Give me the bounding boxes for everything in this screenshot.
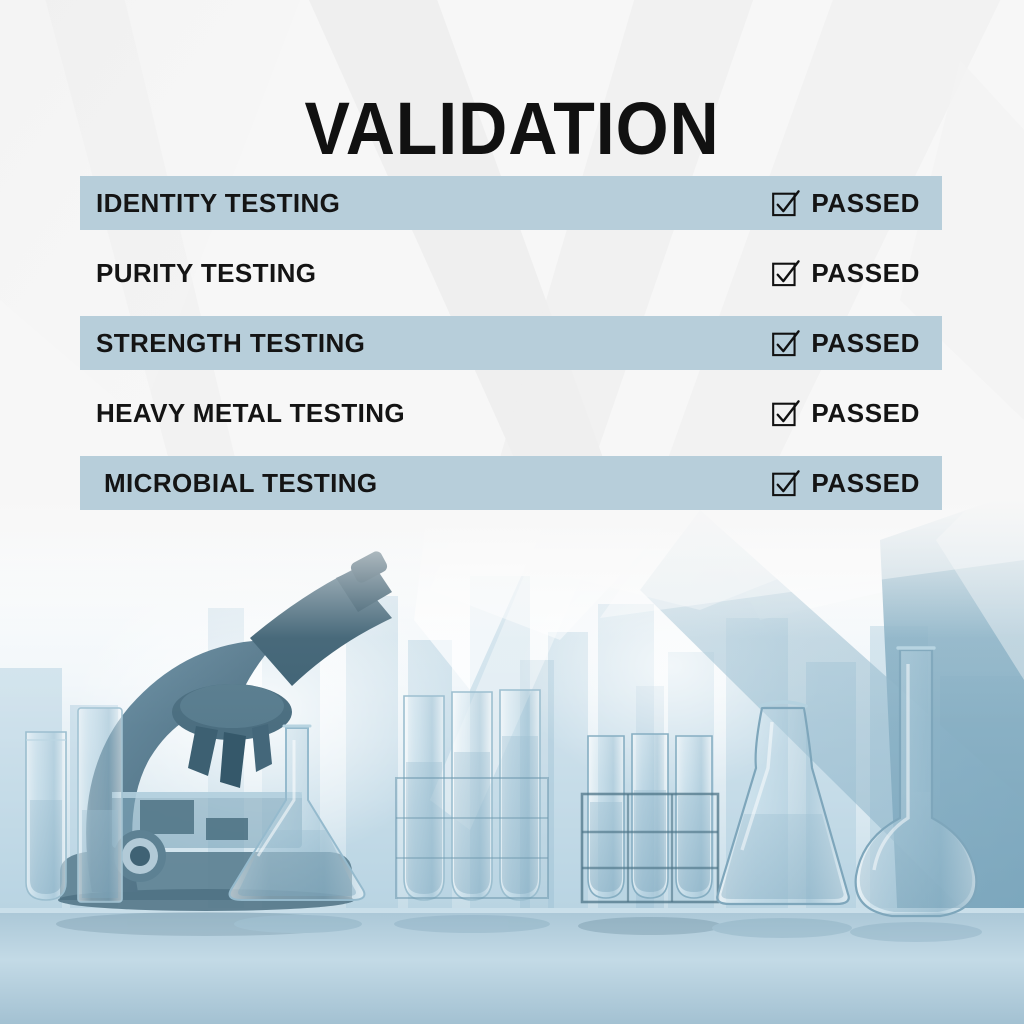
checklist-row-status-text: PASSED (811, 398, 920, 429)
checklist-row[interactable]: HEAVY METAL TESTINGPASSED (80, 386, 942, 440)
checklist-row-label: IDENTITY TESTING (96, 188, 340, 219)
checklist-row-status-text: PASSED (811, 188, 920, 219)
checklist-row-status: PASSED (771, 468, 920, 499)
checklist-row[interactable]: PURITY TESTINGPASSED (80, 246, 942, 300)
checklist-row-status: PASSED (771, 398, 920, 429)
checkbox-checked-icon[interactable] (771, 189, 800, 218)
checkbox-checked-icon[interactable] (771, 259, 800, 288)
validation-checklist: IDENTITY TESTINGPASSEDPURITY TESTINGPASS… (80, 176, 942, 526)
checkbox-checked-icon[interactable] (771, 469, 800, 498)
page-title: VALIDATION (41, 92, 983, 166)
checklist-row[interactable]: MICROBIAL TESTINGPASSED (80, 456, 942, 510)
checklist-row-status: PASSED (771, 328, 920, 359)
checklist-row-status-text: PASSED (811, 328, 920, 359)
checkbox-checked-icon[interactable] (771, 329, 800, 358)
checklist-row-label: HEAVY METAL TESTING (96, 398, 405, 429)
checklist-row-status-text: PASSED (811, 468, 920, 499)
checklist-row[interactable]: IDENTITY TESTINGPASSED (80, 176, 942, 230)
checklist-row-status: PASSED (771, 258, 920, 289)
checklist-row-label: STRENGTH TESTING (96, 328, 365, 359)
checkbox-checked-icon[interactable] (771, 399, 800, 428)
checklist-row[interactable]: STRENGTH TESTINGPASSED (80, 316, 942, 370)
checklist-row-status-text: PASSED (811, 258, 920, 289)
checklist-row-label: MICROBIAL TESTING (104, 468, 378, 499)
laboratory-photo (0, 500, 1024, 1024)
checklist-row-label: PURITY TESTING (96, 258, 316, 289)
checklist-row-status: PASSED (771, 188, 920, 219)
